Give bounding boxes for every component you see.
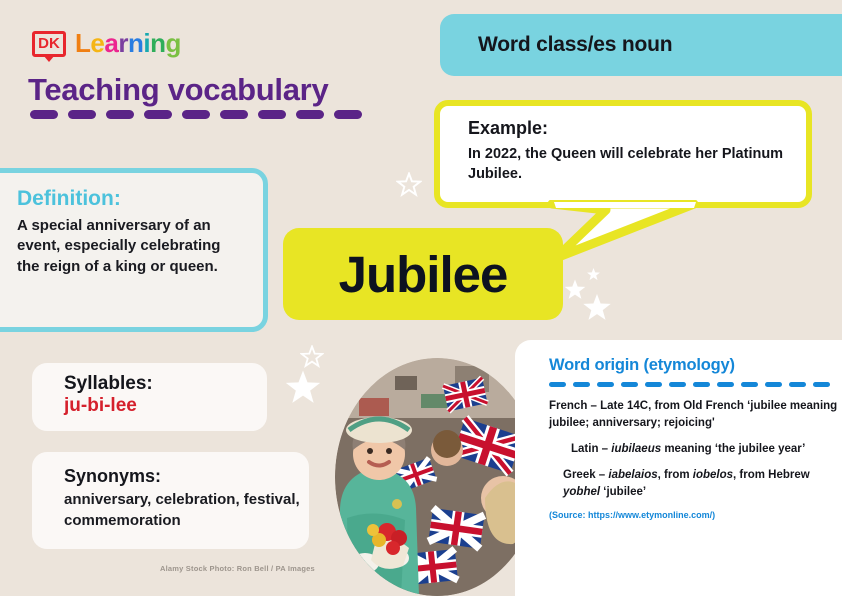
etymology-dash	[693, 382, 710, 387]
title-dash	[182, 110, 210, 119]
etymology-greek-root-2: iobelos	[693, 469, 733, 481]
title-dash	[144, 110, 172, 119]
definition-label: Definition:	[17, 187, 247, 211]
word-class-banner: Word class/es noun	[440, 14, 842, 76]
title-dash	[258, 110, 286, 119]
star-filled-icon	[283, 368, 323, 408]
etymology-source: (Source: https://www.etymonline.com/)	[549, 510, 841, 520]
title-dash	[68, 110, 96, 119]
etymology-dash	[597, 382, 614, 387]
learning-letter-6: n	[150, 28, 165, 59]
speech-bubble-tail-icon	[544, 200, 704, 267]
etymology-panel: Word origin (etymology) French – Late 14…	[515, 340, 842, 596]
etymology-dash	[573, 382, 590, 387]
etymology-dash	[669, 382, 686, 387]
dk-learning-logo: DK Learning	[32, 28, 181, 59]
title-dash	[296, 110, 324, 119]
definition-card: Definition: A special anniversary of an …	[0, 168, 268, 332]
etymology-entry-french: French – Late 14C, from Old French ‘jubi…	[549, 398, 841, 432]
title-dash	[334, 110, 362, 119]
etymology-dash	[741, 382, 758, 387]
etymology-dash	[813, 382, 830, 387]
synonyms-label: Synonyms:	[64, 466, 309, 487]
synonyms-card: Synonyms: anniversary, celebration, fest…	[32, 452, 309, 549]
etymology-latin-dash: –	[598, 443, 611, 455]
etymology-french-text: – Late 14C, from Old French ‘jubilee mea…	[549, 400, 837, 429]
star-outline-icon	[300, 345, 324, 369]
etymology-language-greek: Greek	[563, 469, 596, 481]
vocabulary-poster: DK Learning Teaching vocabulary Word cla…	[0, 0, 842, 596]
etymology-dash	[789, 382, 806, 387]
star-filled-icon	[586, 267, 601, 282]
title-dashed-rule	[30, 110, 362, 119]
etymology-greek-root: iabelaios	[608, 469, 657, 481]
queen-photo	[335, 358, 540, 596]
dk-mark-text: DK	[38, 35, 60, 52]
star-filled-icon	[563, 278, 587, 302]
learning-letter-2: a	[104, 28, 118, 59]
learning-letter-5: i	[143, 28, 150, 59]
etymology-title: Word origin (etymology)	[549, 356, 841, 375]
star-filled-icon	[581, 292, 613, 324]
etymology-greek-hebrew-lead: , from Hebrew	[733, 469, 810, 481]
etymology-entry-greek: Greek – iabelaios, from iobelos, from He…	[549, 467, 841, 501]
etymology-latin-root: iubilaeus	[611, 443, 661, 455]
learning-wordmark: Learning	[75, 28, 181, 59]
etymology-language-french: French	[549, 400, 587, 412]
title-dash	[106, 110, 134, 119]
title-dash	[220, 110, 248, 119]
example-text: In 2022, the Queen will celebrate her Pl…	[468, 144, 788, 184]
vocabulary-word-box: Jubilee	[283, 228, 563, 320]
title-dash	[30, 110, 58, 119]
etymology-greek-from: , from	[658, 469, 693, 481]
etymology-dash	[549, 382, 566, 387]
star-outline-icon	[396, 172, 422, 198]
example-label: Example:	[468, 118, 788, 139]
etymology-dash	[645, 382, 662, 387]
photo-credit: Alamy Stock Photo: Ron Bell / PA Images	[160, 564, 315, 573]
vocabulary-word: Jubilee	[339, 245, 508, 304]
etymology-dash	[765, 382, 782, 387]
page-title: Teaching vocabulary	[28, 72, 328, 108]
etymology-dash	[621, 382, 638, 387]
learning-letter-7: g	[165, 28, 180, 59]
etymology-hebrew-meaning: ‘jubilee’	[600, 486, 646, 498]
learning-letter-3: r	[118, 28, 128, 59]
learning-letter-1: e	[90, 28, 104, 59]
learning-letter-0: L	[75, 28, 90, 59]
syllables-card: Syllables: ju-bi-lee	[32, 363, 267, 431]
word-class-label: Word class/es noun	[478, 33, 672, 57]
etymology-latin-meaning: meaning ‘the jubilee year’	[661, 443, 805, 455]
syllables-label: Syllables:	[64, 373, 267, 395]
etymology-dash	[717, 382, 734, 387]
dk-book-icon: DK	[32, 31, 66, 57]
etymology-dashed-rule	[549, 382, 841, 387]
syllables-value: ju-bi-lee	[64, 395, 267, 418]
etymology-greek-dash: –	[596, 469, 609, 481]
etymology-language-latin: Latin	[571, 443, 598, 455]
etymology-hebrew-root: yobhel	[563, 486, 600, 498]
definition-text: A special anniversary of an event, espec…	[17, 216, 247, 277]
etymology-entry-latin: Latin – iubilaeus meaning ‘the jubilee y…	[549, 441, 841, 458]
synonyms-text: anniversary, celebration, festival, comm…	[64, 490, 309, 531]
example-box: Example: In 2022, the Queen will celebra…	[434, 100, 812, 208]
learning-letter-4: n	[128, 28, 143, 59]
